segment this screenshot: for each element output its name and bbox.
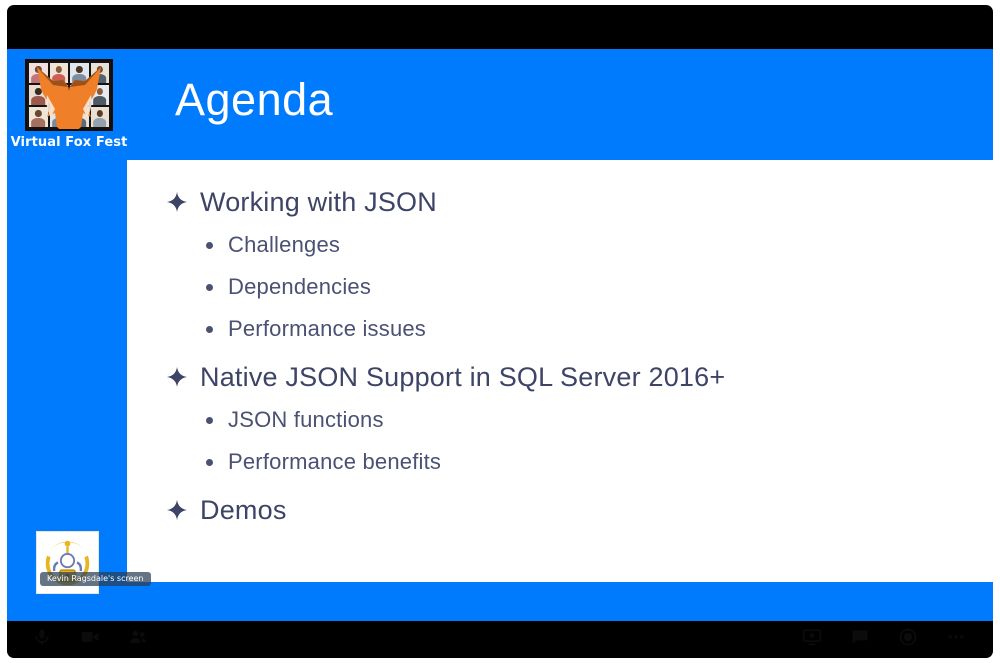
agenda-subitem-label: Performance benefits <box>228 441 441 483</box>
chat-bubble-icon[interactable] <box>847 624 873 650</box>
agenda-item: Demos <box>167 488 983 532</box>
screen-share-viewport: Virtual Fox Fest Agenda Working with JSO… <box>7 5 993 658</box>
slide-content-panel: Working with JSON Challenges Dependencie… <box>127 160 993 582</box>
control-bar-right-group <box>799 624 969 650</box>
agenda-subitem: Challenges <box>206 224 983 266</box>
microphone-icon[interactable] <box>29 624 55 650</box>
agenda-subitem: Performance issues <box>206 308 983 350</box>
agenda-item-label: Working with JSON <box>200 180 437 224</box>
agenda-subitem-label: Dependencies <box>228 266 371 308</box>
four-point-star-icon <box>167 355 187 399</box>
dot-icon <box>206 266 215 308</box>
virtual-fox-fest-logo-icon <box>25 59 113 131</box>
agenda-subitem-label: JSON functions <box>228 399 384 441</box>
agenda-group: Native JSON Support in SQL Server 2016+ … <box>167 355 983 483</box>
camera-icon[interactable] <box>77 624 103 650</box>
agenda-item-label: Demos <box>200 488 287 532</box>
agenda-subitem: Dependencies <box>206 266 983 308</box>
agenda-item: Working with JSON <box>167 180 983 224</box>
record-icon[interactable] <box>895 624 921 650</box>
brand-caption: Virtual Fox Fest <box>10 135 128 150</box>
agenda-group: Demos <box>167 488 983 532</box>
people-icon[interactable] <box>125 624 151 650</box>
agenda-list: Working with JSON Challenges Dependencie… <box>167 180 983 537</box>
agenda-subitem-label: Performance issues <box>228 308 426 350</box>
agenda-group: Working with JSON Challenges Dependencie… <box>167 180 983 350</box>
dot-icon <box>206 441 215 483</box>
screen-share-icon[interactable] <box>799 624 825 650</box>
agenda-subitem: Performance benefits <box>206 441 983 483</box>
dot-icon <box>206 224 215 266</box>
share-status-label: Kevin Ragsdale's screen <box>40 572 151 586</box>
four-point-star-icon <box>167 488 187 532</box>
ellipsis-icon[interactable] <box>943 624 969 650</box>
brand-block: Virtual Fox Fest <box>10 59 128 150</box>
dot-icon <box>206 308 215 350</box>
presenter-thumbnail[interactable]: Kevin Ragsdale's screen <box>36 531 99 594</box>
four-point-star-icon <box>167 180 187 224</box>
agenda-item: Native JSON Support in SQL Server 2016+ <box>167 355 983 399</box>
dot-icon <box>206 399 215 441</box>
presentation-slide: Virtual Fox Fest Agenda Working with JSO… <box>7 49 993 621</box>
agenda-subitem-label: Challenges <box>228 224 340 266</box>
agenda-subitem: JSON functions <box>206 399 983 441</box>
page-title: Agenda <box>175 74 333 126</box>
agenda-item-label: Native JSON Support in SQL Server 2016+ <box>200 355 725 399</box>
fox-silhouette-icon <box>33 65 105 131</box>
meeting-control-bar <box>7 621 993 658</box>
control-bar-left-group <box>29 624 151 650</box>
